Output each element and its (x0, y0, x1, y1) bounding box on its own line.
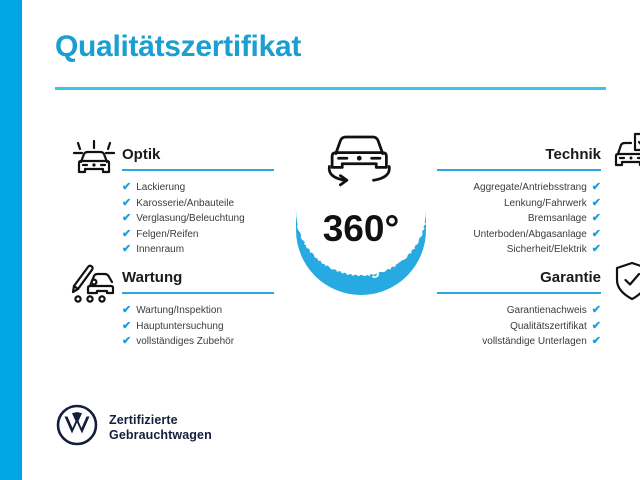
section-underline (437, 169, 601, 171)
pencil-car-icon (70, 262, 116, 309)
list-item: Bremsanlage ✔ (437, 211, 601, 227)
section-title: Technik (437, 145, 601, 165)
list-item: ✔ vollständiges Zubehör (122, 334, 274, 350)
list-item: Garantienachweis ✔ (437, 303, 601, 319)
section-title: Garantie (437, 268, 601, 288)
title-divider (55, 87, 606, 90)
list-item: Sicherheit/Elektrik ✔ (437, 242, 601, 258)
list-item-label: Hauptuntersuchung (136, 319, 223, 335)
list-item-label: Bremsanlage (528, 211, 587, 227)
section-underline (437, 292, 601, 294)
certificate-page: Qualitätszertifikat (0, 0, 640, 480)
section-wartung: Wartung ✔ Wartung/Inspektion ✔ Hauptunte… (122, 268, 274, 350)
checklist: ✔ Lackierung ✔ Karosserie/Anbauteile ✔ V… (122, 180, 274, 258)
check-icon: ✔ (592, 321, 601, 332)
list-item: ✔ Felgen/Reifen (122, 227, 274, 243)
list-item: Lenkung/Fahrwerk ✔ (437, 196, 601, 212)
section-header: Optik (122, 145, 274, 171)
badge-center-label: 360° (323, 208, 400, 249)
list-item: Unterboden/Abgasanlage ✔ (437, 227, 601, 243)
shield-check-icon (613, 260, 640, 307)
car-checkbox-icon (611, 132, 640, 179)
check-icon: ✔ (122, 305, 131, 316)
checklist: Aggregate/Antriebsstrang ✔ Lenkung/Fahrw… (437, 180, 601, 258)
list-item-label: Verglasung/Beleuchtung (136, 211, 244, 227)
list-item-label: Unterboden/Abgasanlage (473, 227, 586, 243)
footer-line-2: Gebrauchtwagen (109, 428, 212, 443)
car-rotate-icon (329, 137, 389, 185)
section-title: Wartung (122, 268, 274, 288)
certificate-sheet: Qualitätszertifikat (22, 0, 640, 480)
list-item: ✔ Karosserie/Anbauteile (122, 196, 274, 212)
check-icon: ✔ (592, 198, 601, 209)
footer-line-1: Zertifizierte (109, 413, 212, 428)
check-icon: ✔ (592, 336, 601, 347)
list-item-label: Garantienachweis (507, 303, 587, 319)
list-item: Qualitätszertifikat ✔ (437, 319, 601, 335)
checklist: ✔ Wartung/Inspektion ✔ Hauptuntersuchung… (122, 303, 274, 350)
section-technik: Technik Aggregate/Antriebsstrang ✔ Lenku… (437, 145, 601, 258)
360-check-badge: 360° Gebrauchtwagen-Check (275, 118, 447, 300)
footer-brand: Zertifizierte Gebrauchtwagen (56, 404, 212, 451)
check-icon: ✔ (592, 244, 601, 255)
list-item-label: vollständiges Zubehör (136, 334, 234, 350)
list-item-label: vollständige Unterlagen (482, 334, 587, 350)
checklist: Garantienachweis ✔ Qualitätszertifikat ✔… (437, 303, 601, 350)
list-item-label: Lenkung/Fahrwerk (504, 196, 587, 212)
car-shine-icon (72, 140, 116, 185)
list-item: ✔ Lackierung (122, 180, 274, 196)
section-garantie: Garantie Garantienachweis ✔ Qualitätszer… (437, 268, 601, 350)
section-title: Optik (122, 145, 274, 165)
check-icon: ✔ (122, 321, 131, 332)
list-item-label: Aggregate/Antriebsstrang (473, 180, 586, 196)
section-header: Garantie (437, 268, 601, 294)
check-icon: ✔ (122, 182, 131, 193)
list-item: ✔ Hauptuntersuchung (122, 319, 274, 335)
check-icon: ✔ (592, 305, 601, 316)
footer-text: Zertifizierte Gebrauchtwagen (109, 413, 212, 443)
check-icon: ✔ (592, 229, 601, 240)
check-icon: ✔ (122, 198, 131, 209)
list-item-label: Lackierung (136, 180, 185, 196)
check-icon: ✔ (122, 229, 131, 240)
section-header: Wartung (122, 268, 274, 294)
left-accent-bar (0, 0, 22, 480)
vw-logo (56, 404, 98, 451)
list-item-label: Sicherheit/Elektrik (507, 242, 587, 258)
section-optik: Optik ✔ Lackierung ✔ Karosserie/Anbautei… (122, 145, 274, 258)
page-title: Qualitätszertifikat (55, 30, 301, 64)
list-item-label: Felgen/Reifen (136, 227, 198, 243)
check-icon: ✔ (122, 213, 131, 224)
list-item-label: Qualitätszertifikat (510, 319, 587, 335)
check-icon: ✔ (122, 244, 131, 255)
list-item-label: Innenraum (136, 242, 184, 258)
list-item-label: Wartung/Inspektion (136, 303, 222, 319)
check-icon: ✔ (122, 336, 131, 347)
section-underline (122, 169, 274, 171)
list-item-label: Karosserie/Anbauteile (136, 196, 234, 212)
check-icon: ✔ (592, 182, 601, 193)
list-item: ✔ Verglasung/Beleuchtung (122, 211, 274, 227)
list-item: ✔ Wartung/Inspektion (122, 303, 274, 319)
list-item: Aggregate/Antriebsstrang ✔ (437, 180, 601, 196)
section-header: Technik (437, 145, 601, 171)
list-item: ✔ Innenraum (122, 242, 274, 258)
list-item: vollständige Unterlagen ✔ (437, 334, 601, 350)
section-underline (122, 292, 274, 294)
check-icon: ✔ (592, 213, 601, 224)
